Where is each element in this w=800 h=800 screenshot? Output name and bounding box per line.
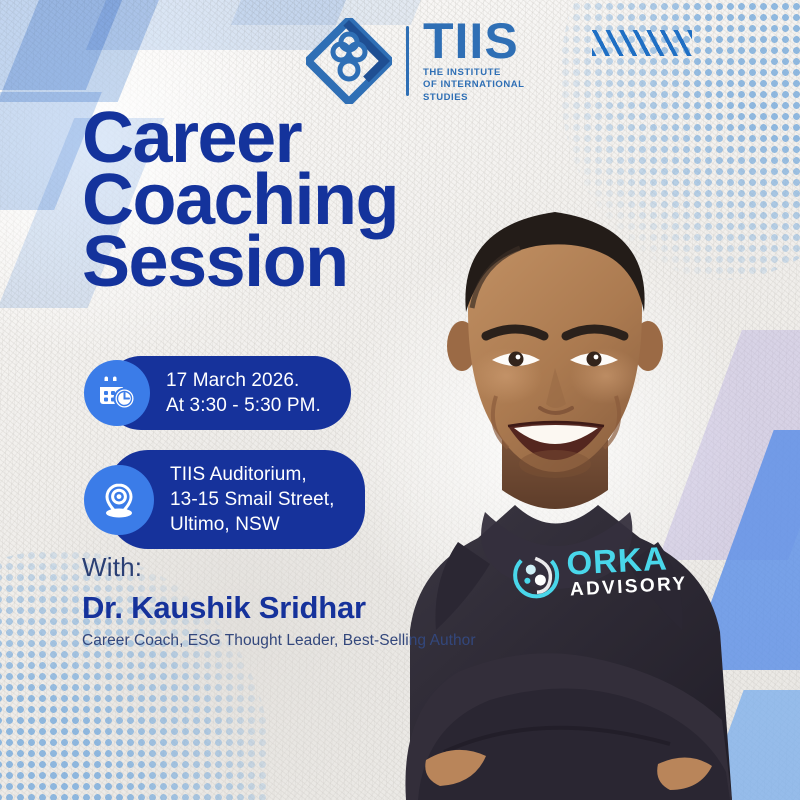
logo-divider <box>406 26 409 96</box>
tiis-wordmark: TIIS <box>423 18 525 64</box>
diagonal-hatch-decoration <box>592 30 692 56</box>
tiis-diamond-logo-icon <box>306 18 392 104</box>
suburb-line: Ultimo, NSW <box>170 512 335 537</box>
with-label: With: <box>82 552 476 583</box>
orka-advisory-chest-logo: ORKA ADVISORY <box>511 540 688 602</box>
headline-line-3: Session <box>82 232 398 294</box>
tiis-tagline-line2: OF INTERNATIONAL <box>423 79 525 91</box>
speaker-photo <box>340 160 800 800</box>
tiis-tagline-line1: THE INSTITUTE <box>423 67 525 79</box>
tiis-tagline-line3: STUDIES <box>423 92 525 104</box>
street-line: 13-15 Smail Street, <box>170 487 335 512</box>
speaker-role: Career Coach, ESG Thought Leader, Best-S… <box>82 632 476 650</box>
venue-line: TIIS Auditorium, <box>170 462 335 487</box>
poster-canvas: ORKA ADVISORY TIIS THE INSTITUTE OF INT <box>0 0 800 800</box>
location-pill: TIIS Auditorium, 13-15 Smail Street, Ult… <box>84 450 365 549</box>
poster-headline: Career Coaching Session <box>82 108 398 294</box>
calendar-clock-icon <box>98 374 136 412</box>
speaker-block: With: Dr. Kaushik Sridhar Career Coach, … <box>82 552 476 650</box>
date-time-pill: 17 March 2026. At 3:30 - 5:30 PM. <box>84 356 351 430</box>
map-pin-icon-badge <box>84 465 154 535</box>
speaker-name: Dr. Kaushik Sridhar <box>82 590 476 626</box>
time-line: At 3:30 - 5:30 PM. <box>166 393 321 418</box>
date-line: 17 March 2026. <box>166 368 321 393</box>
orka-swirl-icon <box>511 550 561 600</box>
calendar-clock-icon-badge <box>84 360 150 426</box>
tiis-logo-lockup: TIIS THE INSTITUTE OF INTERNATIONAL STUD… <box>306 18 525 104</box>
map-pin-icon <box>100 481 138 519</box>
